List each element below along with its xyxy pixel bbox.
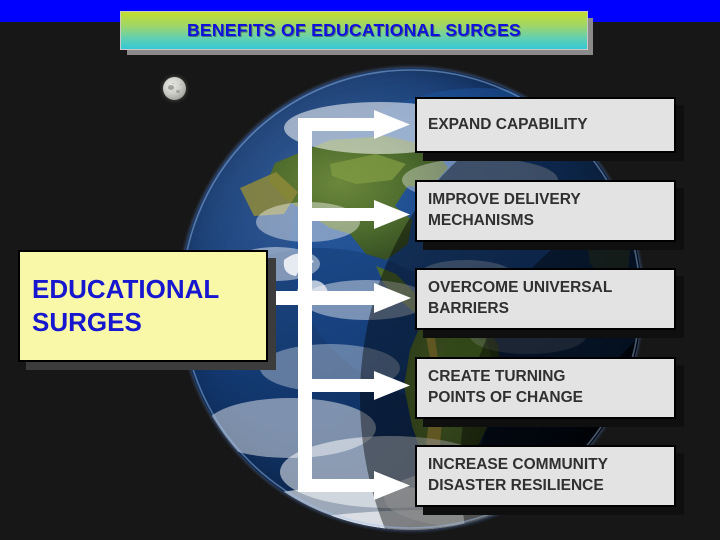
source-box-line-2: SURGES bbox=[32, 306, 266, 339]
benefit-line: BARRIERS bbox=[428, 299, 674, 320]
title-plaque: BENEFITS OF EDUCATIONAL SURGES bbox=[120, 11, 588, 50]
benefit-box-create-turning-points-of-change[interactable]: CREATE TURNING POINTS OF CHANGE bbox=[415, 357, 676, 419]
benefit-box-increase-community-disaster-resilience[interactable]: INCREASE COMMUNITY DISASTER RESILIENCE bbox=[415, 445, 676, 507]
benefit-line: INCREASE COMMUNITY bbox=[428, 455, 674, 476]
page-title: BENEFITS OF EDUCATIONAL SURGES bbox=[187, 20, 521, 41]
source-box-line-1: EDUCATIONAL bbox=[32, 273, 266, 306]
source-box-educational-surges[interactable]: EDUCATIONAL SURGES bbox=[18, 250, 268, 362]
arrow-to-improve-delivery-mechanisms bbox=[306, 200, 410, 229]
benefit-box-overcome-universal-barriers[interactable]: OVERCOME UNIVERSAL BARRIERS bbox=[415, 268, 676, 330]
arrow-to-create-turning-points-of-change bbox=[306, 371, 410, 400]
benefit-box-improve-delivery-mechanisms[interactable]: IMPROVE DELIVERY MECHANISMS bbox=[415, 180, 676, 242]
arrow-to-increase-community-disaster-resilience bbox=[306, 471, 410, 500]
benefit-box-expand-capability[interactable]: EXPAND CAPABILITY bbox=[415, 97, 676, 153]
slide-canvas: EDUCATIONAL SURGES EXPAND CAPABILITY IMP… bbox=[0, 0, 720, 540]
benefit-line: OVERCOME UNIVERSAL bbox=[428, 278, 674, 299]
benefit-line: POINTS OF CHANGE bbox=[428, 388, 674, 409]
benefit-line: MECHANISMS bbox=[428, 211, 674, 232]
arrow-to-expand-capability bbox=[306, 110, 410, 139]
arrow-to-overcome-universal-barriers bbox=[306, 283, 411, 313]
benefit-line: CREATE TURNING bbox=[428, 367, 674, 388]
benefit-line: IMPROVE DELIVERY bbox=[428, 190, 674, 211]
benefit-line: DISASTER RESILIENCE bbox=[428, 476, 674, 497]
benefit-line: EXPAND CAPABILITY bbox=[428, 115, 674, 136]
